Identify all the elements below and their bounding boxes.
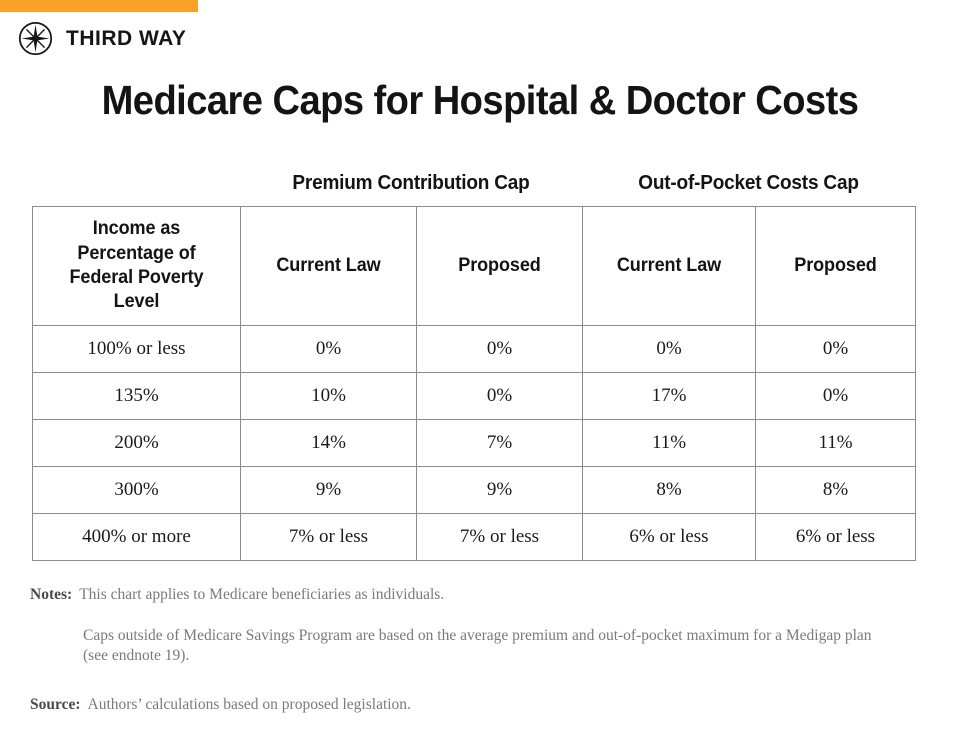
notes-label: Notes:: [30, 585, 72, 606]
compass-rose-icon: [18, 21, 53, 56]
source-label: Source:: [30, 695, 81, 716]
cell-premium-current-law: 10%: [241, 373, 417, 420]
column-header-income-line3: Federal Poverty: [69, 267, 203, 288]
notes-text: This chart applies to Medicare beneficia…: [79, 585, 444, 606]
source-line: Source: Authors’ calculations based on p…: [30, 695, 930, 716]
cell-oop-proposed: 11%: [756, 420, 916, 467]
cell-income: 400% or more: [33, 514, 241, 561]
notes-text-secondary: Caps outside of Medicare Savings Program…: [83, 626, 898, 667]
cell-oop-current-law: 6% or less: [583, 514, 756, 561]
column-header-oop-proposed: Proposed: [756, 207, 916, 326]
column-header-oop-current-law-label: Current Law: [587, 254, 750, 278]
source-text: Authors’ calculations based on proposed …: [88, 695, 411, 716]
column-header-premium-proposed-label: Proposed: [421, 254, 578, 278]
cell-premium-current-law: 0%: [241, 326, 417, 373]
cell-premium-proposed: 9%: [417, 467, 583, 514]
cell-income: 200%: [33, 420, 241, 467]
cell-oop-current-law: 0%: [583, 326, 756, 373]
column-header-premium-proposed: Proposed: [417, 207, 583, 326]
cell-oop-current-law: 11%: [583, 420, 756, 467]
brand-name: THIRD WAY: [66, 28, 186, 49]
cell-income: 300%: [33, 467, 241, 514]
accent-bar: [0, 0, 198, 12]
cell-premium-current-law: 14%: [241, 420, 417, 467]
column-header-income-line4: Level: [114, 291, 160, 312]
group-header-premium-contribution-cap: Premium Contribution Cap: [249, 172, 574, 195]
column-header-premium-current-law: Current Law: [241, 207, 417, 326]
cell-income: 135%: [33, 373, 241, 420]
cell-premium-proposed: 7%: [417, 420, 583, 467]
cell-oop-proposed: 0%: [756, 326, 916, 373]
table-row: 400% or more 7% or less 7% or less 6% or…: [33, 514, 916, 561]
column-header-premium-current-law-label: Current Law: [245, 254, 411, 278]
table-row: 200% 14% 7% 11% 11%: [33, 420, 916, 467]
brand-logo: THIRD WAY: [18, 21, 186, 56]
group-header-out-of-pocket-costs-cap: Out-of-Pocket Costs Cap: [590, 172, 906, 195]
cell-premium-proposed: 7% or less: [417, 514, 583, 561]
column-header-income-line1: Income as: [93, 218, 180, 239]
page-title: Medicare Caps for Hospital & Doctor Cost…: [34, 77, 927, 124]
cell-premium-current-law: 9%: [241, 467, 417, 514]
cell-oop-current-law: 8%: [583, 467, 756, 514]
column-header-oop-proposed-label: Proposed: [760, 254, 911, 278]
table-row: 100% or less 0% 0% 0% 0%: [33, 326, 916, 373]
cell-oop-proposed: 8%: [756, 467, 916, 514]
column-header-oop-current-law: Current Law: [583, 207, 756, 326]
cell-premium-proposed: 0%: [417, 373, 583, 420]
cell-oop-proposed: 6% or less: [756, 514, 916, 561]
medicare-caps-table: Income as Percentage of Federal Poverty …: [32, 206, 916, 561]
table-group-headers: Premium Contribution Cap Out-of-Pocket C…: [240, 172, 915, 195]
column-header-income: Income as Percentage of Federal Poverty …: [33, 207, 241, 326]
table-row: 135% 10% 0% 17% 0%: [33, 373, 916, 420]
cell-premium-proposed: 0%: [417, 326, 583, 373]
cell-oop-proposed: 0%: [756, 373, 916, 420]
footnotes: Notes: This chart applies to Medicare be…: [30, 585, 930, 715]
notes-line: Notes: This chart applies to Medicare be…: [30, 585, 930, 606]
cell-income: 100% or less: [33, 326, 241, 373]
cell-premium-current-law: 7% or less: [241, 514, 417, 561]
table-header-row: Income as Percentage of Federal Poverty …: [33, 207, 916, 326]
column-header-income-line2: Percentage of: [77, 243, 195, 264]
table-row: 300% 9% 9% 8% 8%: [33, 467, 916, 514]
cell-oop-current-law: 17%: [583, 373, 756, 420]
